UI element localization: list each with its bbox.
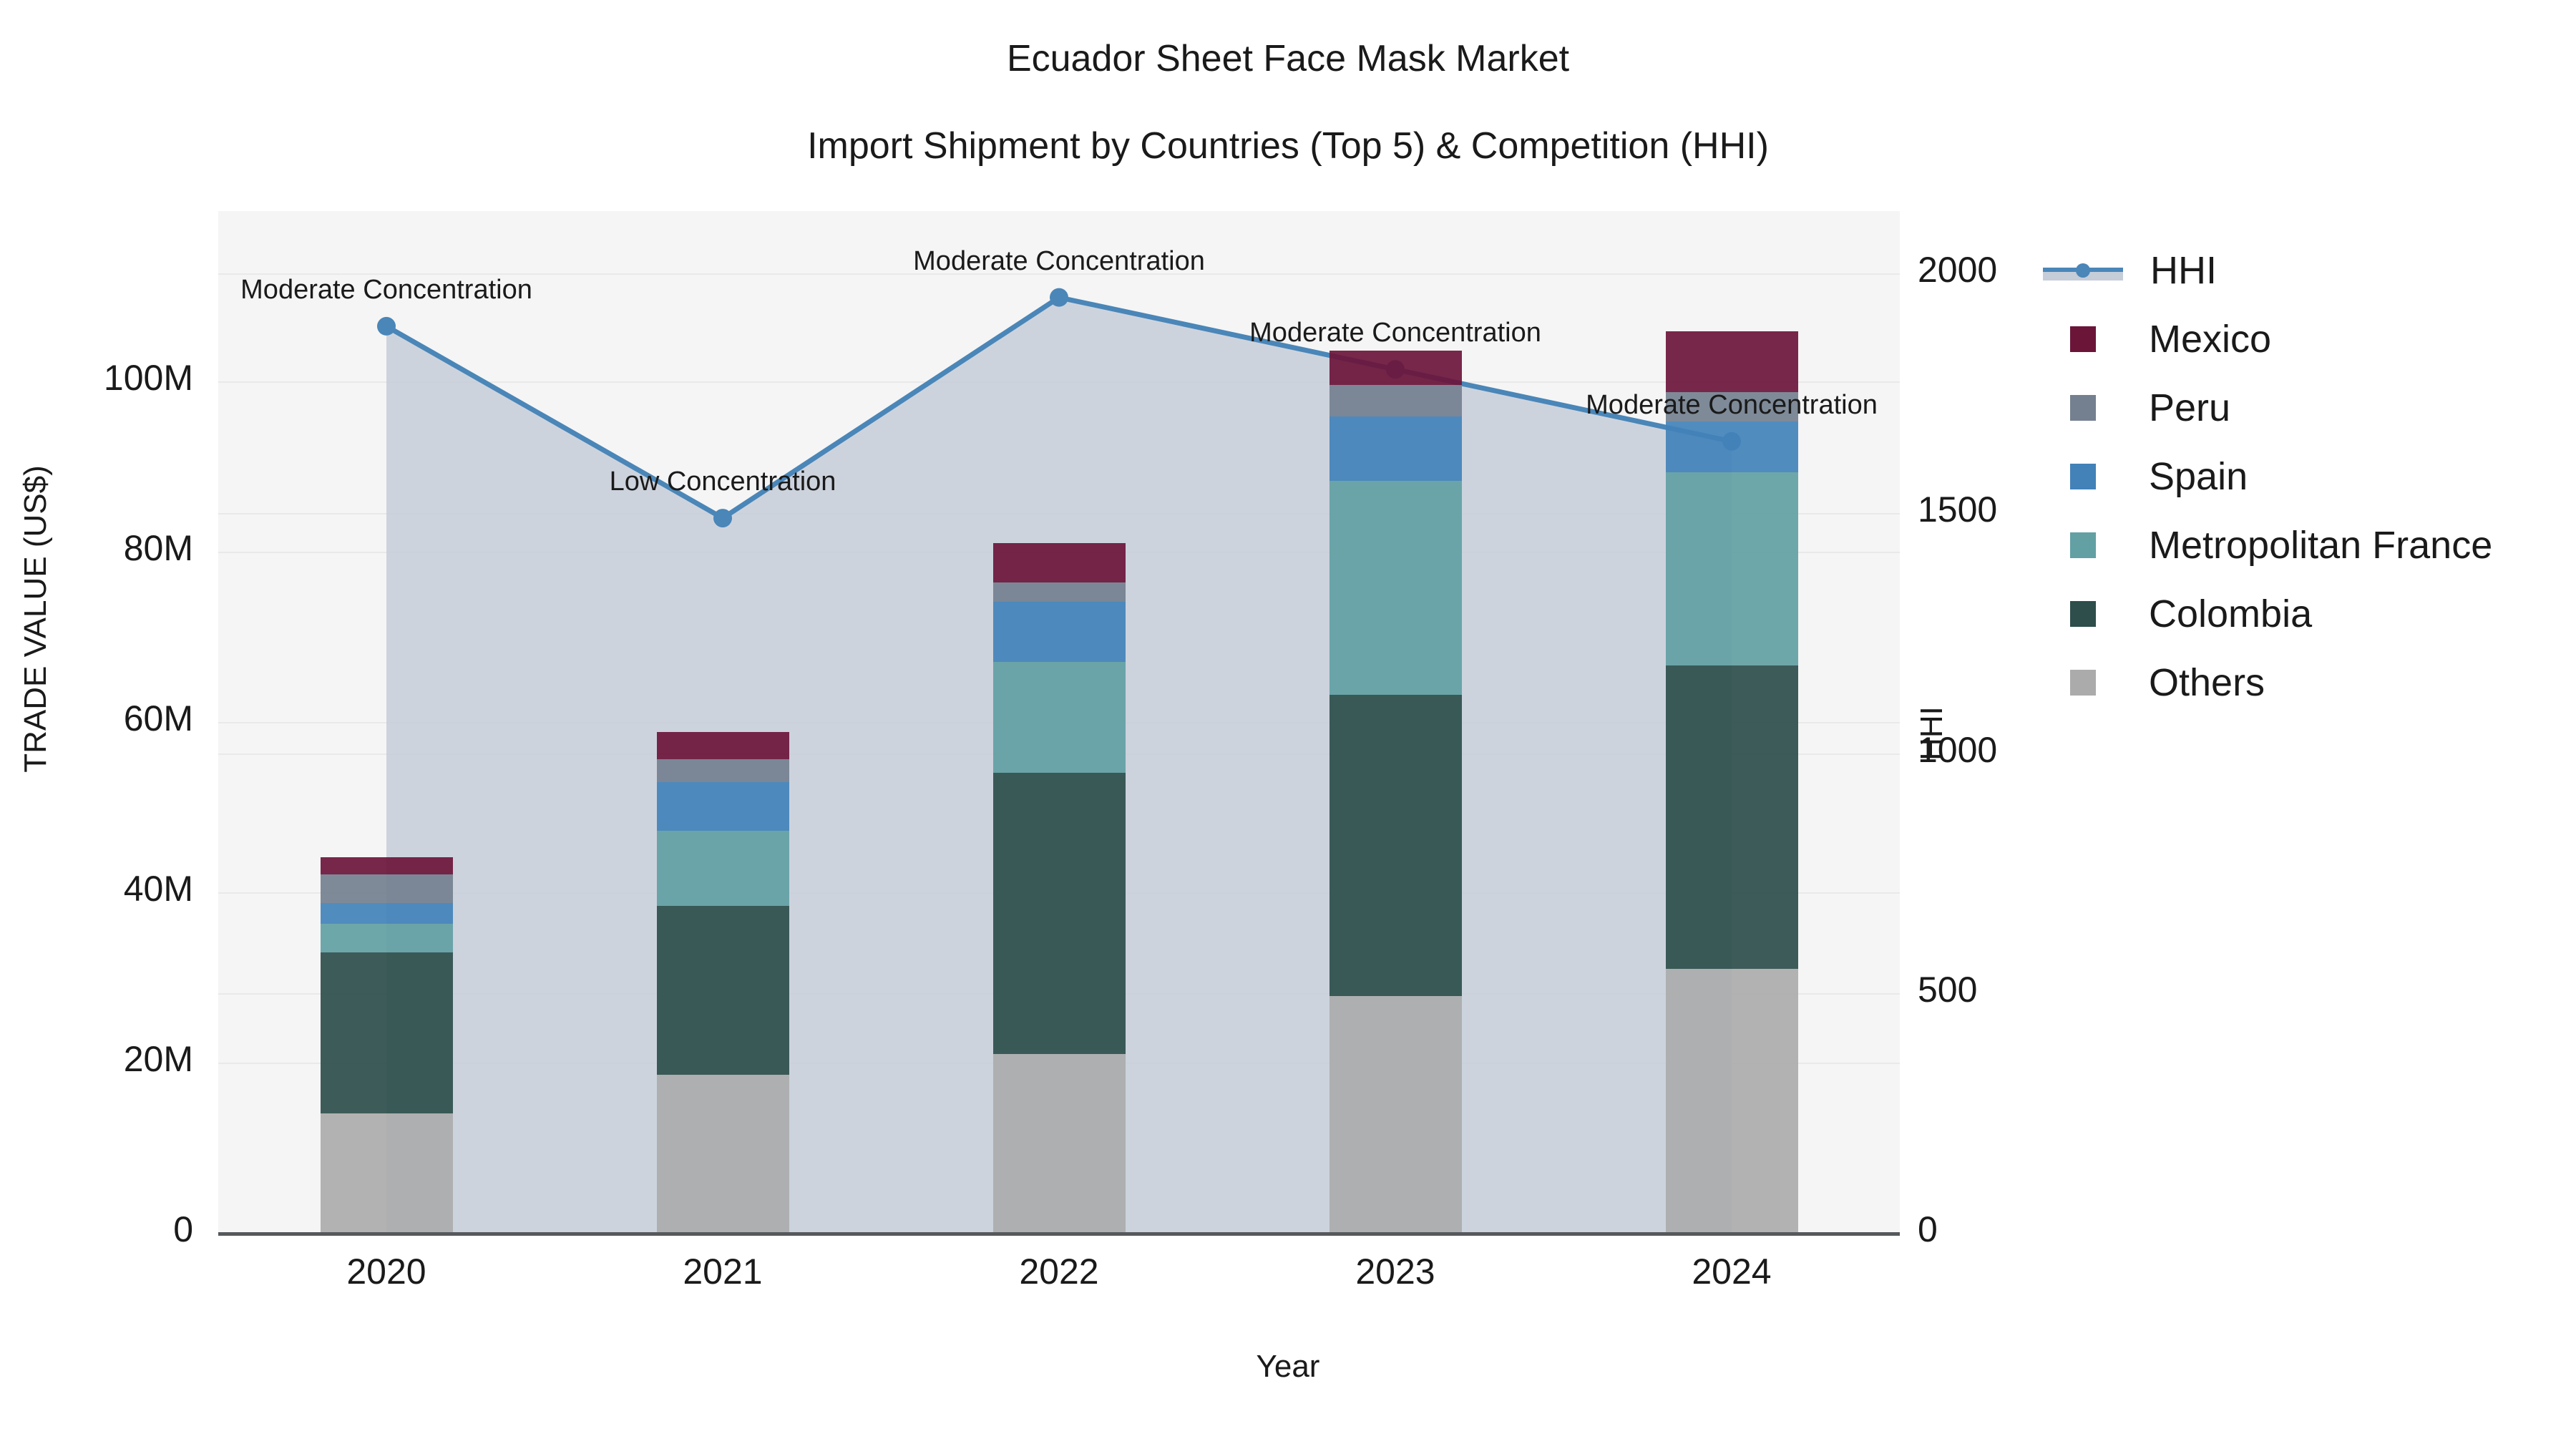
x-tick-label: 2021 — [615, 1251, 830, 1292]
bar-segment-metropolitan-france[interactable] — [321, 924, 453, 952]
y-axis-left-label: TRADE VALUE (US$) — [18, 369, 54, 869]
bar-segment-mexico[interactable] — [657, 732, 789, 759]
legend-item-spain[interactable]: Spain — [2043, 442, 2492, 511]
hhi-annotation: Moderate Concentration — [1231, 318, 1560, 348]
legend-label: Colombia — [2149, 592, 2312, 636]
bar-segment-spain[interactable] — [993, 602, 1126, 661]
bar-group[interactable] — [321, 211, 453, 1233]
legend-color-swatch — [2070, 532, 2096, 558]
bar-segment-peru[interactable] — [321, 874, 453, 903]
plot-area: Moderate ConcentrationLow ConcentrationM… — [218, 211, 1900, 1233]
y-tick-label-right: 500 — [1918, 969, 2097, 1010]
legend: HHIMexicoPeruSpainMetropolitan FranceCol… — [2043, 236, 2492, 717]
bar-segment-others[interactable] — [993, 1054, 1126, 1233]
bar-segment-mexico[interactable] — [1330, 351, 1462, 385]
bar-segment-others[interactable] — [657, 1075, 789, 1233]
bar-segment-spain[interactable] — [657, 782, 789, 831]
hhi-annotation: Low Concentration — [558, 467, 887, 497]
legend-label: Peru — [2149, 386, 2230, 430]
legend-item-others[interactable]: Others — [2043, 648, 2492, 717]
bar-segment-others[interactable] — [1330, 996, 1462, 1233]
y-axis-right-label: HHI — [1914, 590, 1950, 877]
legend-item-hhi[interactable]: HHI — [2043, 236, 2492, 305]
legend-color-swatch — [2070, 395, 2096, 421]
legend-label: Mexico — [2149, 317, 2271, 361]
legend-color-swatch — [2070, 670, 2096, 696]
bar-segment-colombia[interactable] — [993, 773, 1126, 1054]
bar-group[interactable] — [1666, 211, 1798, 1233]
x-axis-line — [218, 1232, 1900, 1236]
bar-segment-spain[interactable] — [1330, 416, 1462, 481]
y-tick-label-left: 20M — [14, 1038, 193, 1080]
y-tick-label-left: 40M — [14, 868, 193, 909]
bar-group[interactable] — [993, 211, 1126, 1233]
y-tick-label-left: 0 — [14, 1209, 193, 1250]
chart-root: Ecuador Sheet Face Mask Market Import Sh… — [0, 0, 2576, 1449]
legend-label: Spain — [2149, 454, 2248, 499]
legend-label: Metropolitan France — [2149, 523, 2492, 567]
bar-segment-others[interactable] — [1666, 969, 1798, 1233]
legend-label: HHI — [2150, 248, 2217, 293]
x-axis-label: Year — [0, 1349, 2576, 1385]
legend-color-swatch — [2070, 601, 2096, 627]
bar-group[interactable] — [1330, 211, 1462, 1233]
bar-segment-metropolitan-france[interactable] — [1666, 472, 1798, 665]
bar-segment-peru[interactable] — [993, 582, 1126, 602]
chart-title-line1: Ecuador Sheet Face Mask Market — [0, 37, 2576, 80]
legend-label: Others — [2149, 660, 2265, 705]
hhi-annotation: Moderate Concentration — [222, 275, 551, 306]
bar-group[interactable] — [657, 211, 789, 1233]
hhi-annotation: Moderate Concentration — [894, 246, 1224, 277]
x-tick-label: 2024 — [1624, 1251, 1839, 1292]
bar-segment-colombia[interactable] — [1330, 695, 1462, 996]
bar-segment-peru[interactable] — [657, 759, 789, 782]
bar-segment-mexico[interactable] — [321, 857, 453, 874]
legend-item-metropolitan-france[interactable]: Metropolitan France — [2043, 511, 2492, 580]
x-tick-label: 2022 — [952, 1251, 1166, 1292]
bar-segment-spain[interactable] — [1666, 421, 1798, 472]
bar-segment-mexico[interactable] — [993, 543, 1126, 582]
x-tick-label: 2020 — [279, 1251, 494, 1292]
hhi-annotation: Moderate Concentration — [1567, 390, 1896, 421]
bar-segment-colombia[interactable] — [1666, 665, 1798, 969]
legend-item-colombia[interactable]: Colombia — [2043, 580, 2492, 648]
bar-segment-mexico[interactable] — [1666, 331, 1798, 393]
bar-segment-metropolitan-france[interactable] — [993, 662, 1126, 774]
bar-segment-metropolitan-france[interactable] — [1330, 481, 1462, 695]
chart-title-line2: Import Shipment by Countries (Top 5) & C… — [0, 125, 2576, 167]
bar-segment-colombia[interactable] — [657, 906, 789, 1075]
legend-item-peru[interactable]: Peru — [2043, 374, 2492, 442]
bar-segment-metropolitan-france[interactable] — [657, 831, 789, 906]
y-tick-label-right: 0 — [1918, 1209, 2097, 1250]
bar-segment-peru[interactable] — [1330, 385, 1462, 416]
legend-item-mexico[interactable]: Mexico — [2043, 305, 2492, 374]
bar-segment-others[interactable] — [321, 1113, 453, 1233]
x-tick-label: 2023 — [1288, 1251, 1503, 1292]
legend-line-marker — [2043, 258, 2123, 283]
bar-segment-colombia[interactable] — [321, 952, 453, 1113]
legend-color-swatch — [2070, 464, 2096, 489]
legend-color-swatch — [2070, 326, 2096, 352]
bar-segment-spain[interactable] — [321, 903, 453, 924]
